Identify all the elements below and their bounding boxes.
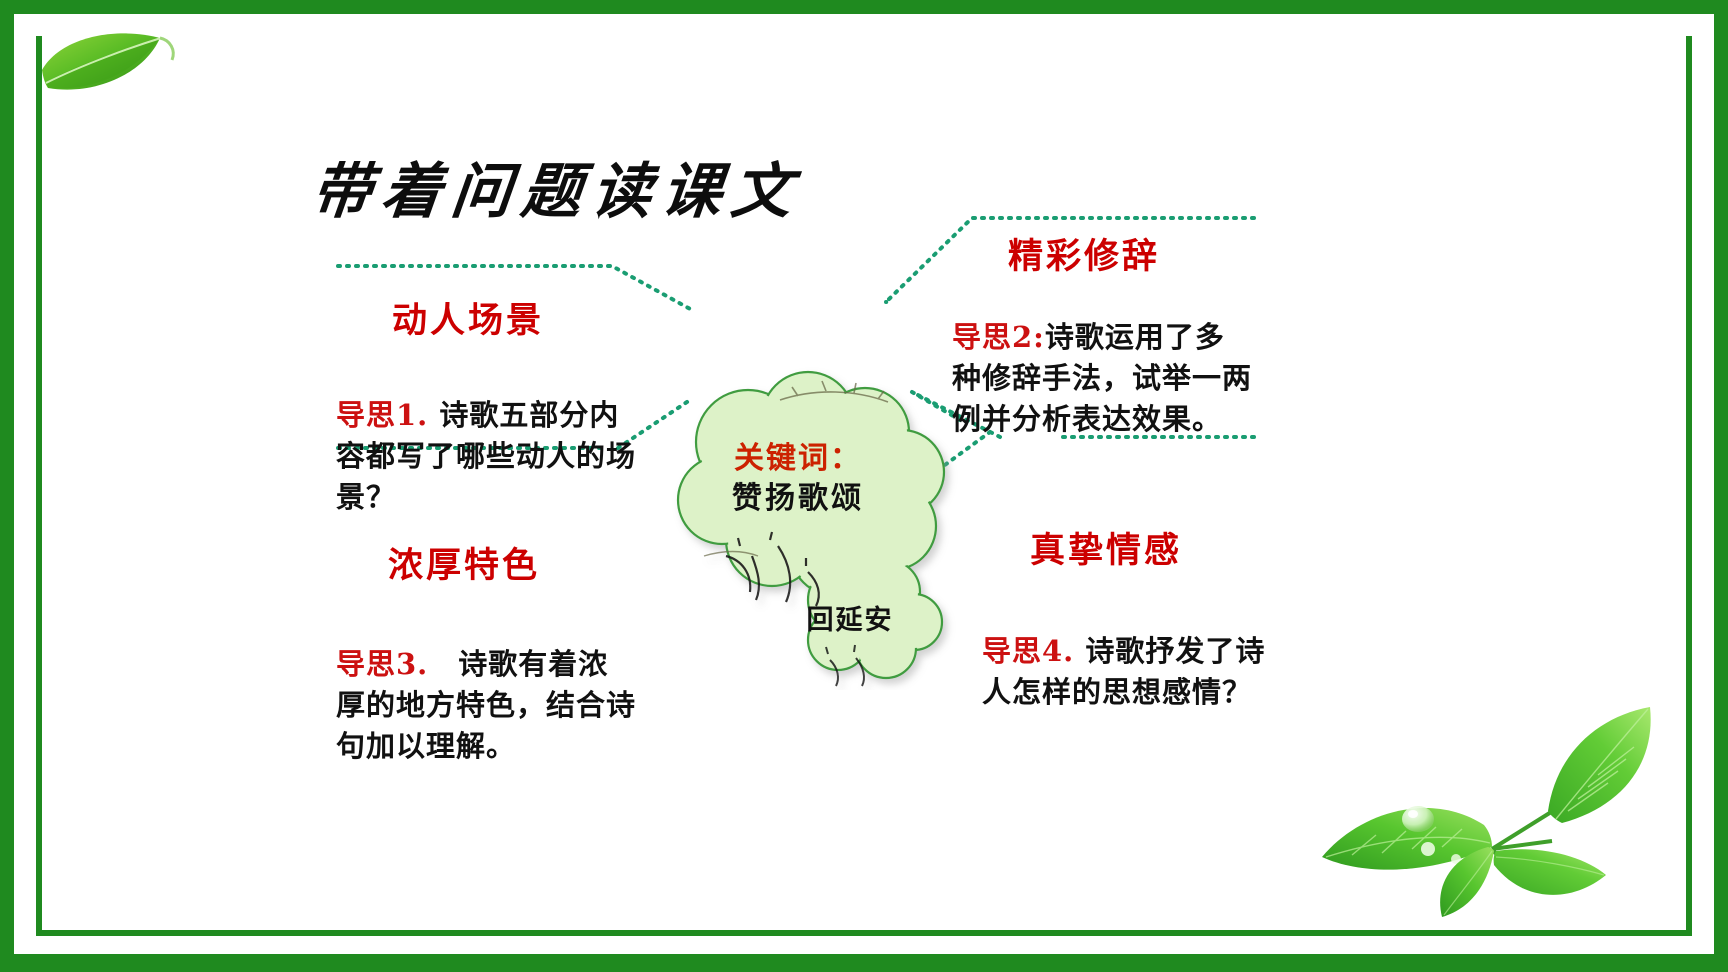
block4-heading: 真挚情感	[1030, 522, 1282, 573]
block3-body: 导思3. 诗歌有着浓厚的地方特色，结合诗句加以理解。	[336, 644, 636, 768]
block1-body: 导思1. 诗歌五部分内容都写了哪些动人的场景？	[336, 395, 636, 519]
block2-heading: 精彩修辞	[1008, 228, 1252, 279]
topic-block-animated-scenes: 动人场景 导思1. 诗歌五部分内容都写了哪些动人的场景？	[336, 292, 636, 519]
keyword-cloud: 关键词： 赞扬歌颂 回延安	[630, 360, 990, 690]
topic-block-rhetoric: 精彩修辞 导思2:诗歌运用了多种修辞手法，试举一两例并分析表达效果。	[952, 228, 1252, 441]
block4-body: 导思4. 诗歌抒发了诗人怎样的思想感情？	[982, 631, 1282, 713]
keyword-value: 赞扬歌颂	[678, 473, 918, 517]
inner-rule-left	[36, 36, 42, 936]
page-title: 带着问题读课文	[307, 143, 806, 230]
topic-block-sincere-emotion: 真挚情感 导思4. 诗歌抒发了诗人怎样的思想感情？	[982, 522, 1282, 713]
inner-rule-right	[1686, 36, 1692, 936]
frame-border-right	[1714, 0, 1728, 972]
block2-lead: 导思2:	[952, 320, 1045, 354]
block3-heading: 浓厚特色	[388, 537, 636, 588]
block1-heading: 动人场景	[392, 292, 636, 343]
subject-label: 回延安	[770, 598, 930, 637]
block4-lead: 导思4.	[982, 634, 1074, 668]
block2-body: 导思2:诗歌运用了多种修辞手法，试举一两例并分析表达效果。	[952, 317, 1252, 441]
topic-block-local-flavor: 浓厚特色 导思3. 诗歌有着浓厚的地方特色，结合诗句加以理解。	[336, 537, 636, 768]
frame-border-bottom	[0, 954, 1728, 972]
block3-lead: 导思3.	[336, 647, 428, 681]
block1-lead: 导思1.	[336, 398, 428, 432]
keyword-label: 关键词：	[678, 433, 918, 477]
leaf-icon	[34, 22, 184, 107]
leaf-cluster-icon	[1256, 659, 1676, 924]
slide-canvas: 带着问题读课文 动人场景 导思1. 诗歌五部分内容都写了哪些动人的场景？ 精彩修…	[0, 0, 1728, 972]
frame-border-top	[0, 0, 1728, 14]
inner-rule-bottom	[36, 930, 1692, 936]
frame-border-left	[0, 0, 14, 972]
